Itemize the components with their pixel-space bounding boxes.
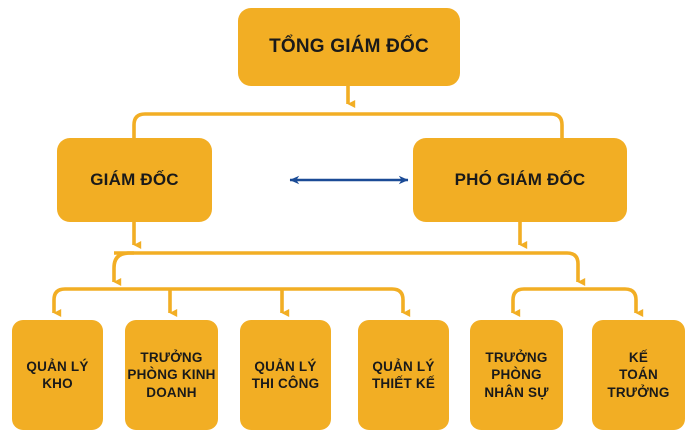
node-label: GIÁM ĐỐC	[57, 169, 212, 191]
connector-main-rail-left-end	[114, 253, 134, 282]
node-truong-phong-kinh-doanh[interactable]: TRƯỞNG PHÒNG KINH DOANH	[125, 320, 218, 430]
connector-right-group-end-2	[625, 289, 636, 313]
node-quan-ly-thiet-ke[interactable]: QUẢN LÝ THIẾT KẾ	[358, 320, 449, 430]
node-truong-phong-nhan-su[interactable]: TRƯỞNG PHÒNG NHÂN SỰ	[470, 320, 563, 430]
node-quan-ly-kho[interactable]: QUẢN LÝ KHO	[12, 320, 103, 430]
connector-main-rail-right-end	[567, 253, 578, 282]
node-label: QUẢN LÝ THI CÔNG	[240, 358, 331, 393]
node-label: QUẢN LÝ THIẾT KẾ	[358, 358, 449, 393]
node-label: TRƯỞNG PHÒNG KINH DOANH	[125, 349, 218, 401]
node-label: TRƯỞNG PHÒNG NHÂN SỰ	[470, 349, 563, 401]
node-label: QUẢN LÝ KHO	[12, 358, 103, 393]
node-quan-ly-thi-cong[interactable]: QUẢN LÝ THI CÔNG	[240, 320, 331, 430]
node-label: TỔNG GIÁM ĐỐC	[238, 35, 460, 59]
node-label: PHÓ GIÁM ĐỐC	[413, 169, 627, 191]
connector-left-group-end-4	[392, 289, 403, 313]
connector-right-group-end-1	[513, 289, 524, 313]
node-ke-toan-truong[interactable]: KẾ TOÁN TRƯỞNG	[592, 320, 685, 430]
connector-l1-rail	[134, 114, 562, 138]
node-giam-doc[interactable]: GIÁM ĐỐC	[57, 138, 212, 222]
node-label: KẾ TOÁN TRƯỞNG	[592, 349, 685, 401]
node-tong-giam-doc[interactable]: TỔNG GIÁM ĐỐC	[238, 8, 460, 86]
connector-left-group-end-1	[54, 289, 65, 313]
org-chart: TỔNG GIÁM ĐỐC GIÁM ĐỐC PHÓ GIÁM ĐỐC QUẢN…	[0, 0, 697, 436]
node-pho-giam-doc[interactable]: PHÓ GIÁM ĐỐC	[413, 138, 627, 222]
